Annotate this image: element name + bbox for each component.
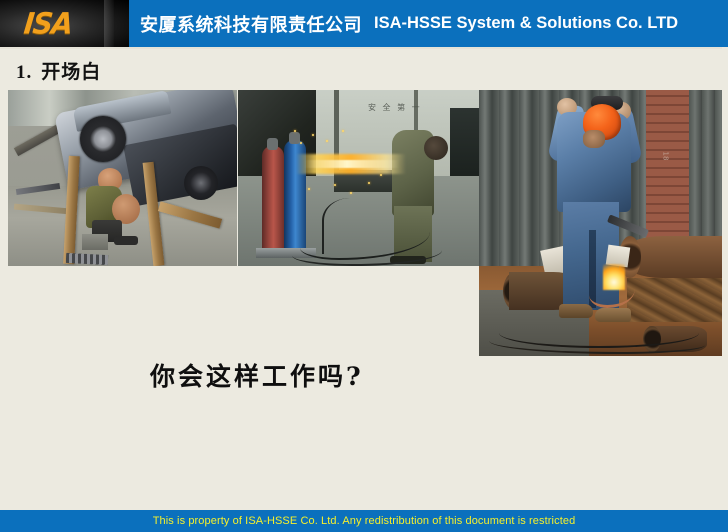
footer-copyright-text: This is property of ISA-HSSE Co. Ltd. An… [153,515,576,527]
company-name-cn: 安厦系统科技有限责任公司 [140,11,362,37]
photo2-spark-dot [300,142,302,144]
photo2-dark-cabinet-right [450,108,479,182]
photo2-cylinder-valve-blue [289,132,300,144]
slide-footer: This is property of ISA-HSSE Co. Ltd. An… [0,510,728,532]
photo2-spark-dot [350,192,352,194]
photo1-beam-diagonal [14,125,60,156]
photo2-spark-dot [326,140,328,142]
footer-spacer [0,503,728,510]
photo1-tools-on-ground [66,253,108,265]
header-title-group: 安厦系统科技有限责任公司 ISA-HSSE System & Solutions… [140,0,678,47]
photo2-worker-head [424,136,448,160]
photo2-cylinder-valve-red [267,138,278,150]
photo1-car-wheel-rear [184,166,218,200]
page-title-number: 1. [16,62,32,83]
slide-header: ISA 安厦系统科技有限责任公司 ISA-HSSE System & Solut… [0,0,728,47]
photo2-wall-sign: 安 全 第 一 [368,102,422,113]
company-name-en: ISA-HSSE System & Solutions Co. LTD [374,14,678,33]
photo2-spark-dot [342,130,344,132]
photo2-spark-dot [380,174,382,176]
photo2-spark-dot [334,184,336,186]
photo-car-on-props [8,90,237,266]
slide-canvas: ISA 安厦系统科技有限责任公司 ISA-HSSE System & Solut… [0,0,728,532]
photo2-spark-dot [294,130,296,132]
photo3-wall-marking: 18 [661,152,669,161]
photo2-spark-core [304,160,400,168]
photo2-spark-dot [308,188,310,190]
photo2-power-cable [322,198,392,254]
photo3-worker-boot-left [559,304,593,318]
header-divider [0,47,728,49]
photo1-concrete-block [82,234,108,250]
photo2-spark-dot [368,182,370,184]
photo3-worker-face [583,130,605,148]
slide-right-margin [722,47,728,510]
photo1-person-shoe [114,236,138,245]
slide-caption: 你会这样工作吗? [150,357,364,393]
photo2-gas-cylinder-red [262,146,284,254]
photo-torch-worker: 18 [479,90,722,356]
photo1-car-wheel-front [80,116,126,162]
photo3-rust-debris [627,278,722,322]
page-title: 1.开场白 [16,57,101,84]
logo-panel: ISA [0,0,129,47]
photo2-spark-dot [312,134,314,136]
photo-grinding-sparks: 安 全 第 一 [238,90,479,266]
isa-logo-icon: ISA [22,6,73,41]
page-title-text: 开场白 [41,61,101,83]
